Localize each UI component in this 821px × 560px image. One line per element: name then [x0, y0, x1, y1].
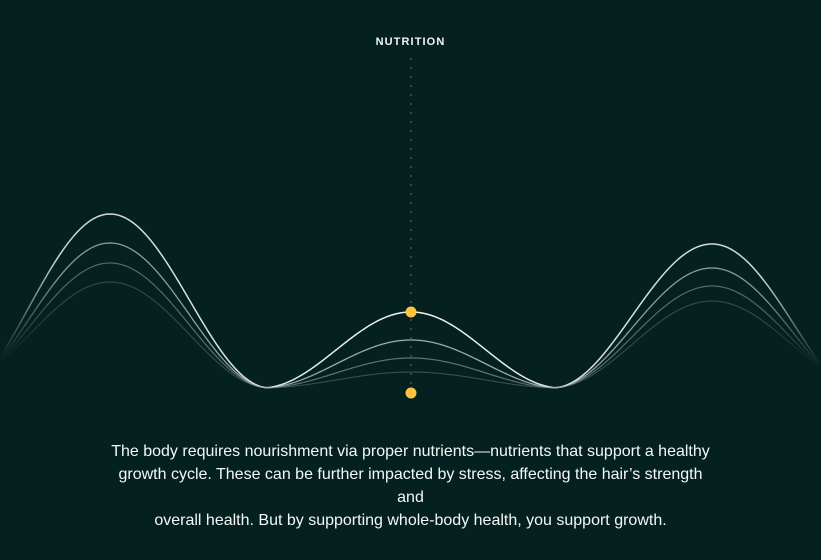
- caption-paragraph: The body requires nourishment via proper…: [110, 440, 711, 532]
- wave-group: [0, 214, 820, 388]
- nutrition-marker-label: NUTRITION: [0, 36, 821, 48]
- caption-line-3: overall health. But by supporting whole-…: [110, 509, 711, 532]
- caption-line-2: growth cycle. These can be further impac…: [110, 463, 711, 509]
- wave-4: [0, 282, 820, 388]
- baseline-dot[interactable]: [406, 388, 417, 399]
- wave-3: [0, 263, 820, 388]
- peak-dot[interactable]: [406, 307, 417, 318]
- caption-line-1: The body requires nourishment via proper…: [110, 440, 711, 463]
- wave-1: [0, 214, 820, 388]
- nutrition-wave-scene: NUTRITION The body requires nourishment …: [0, 0, 821, 560]
